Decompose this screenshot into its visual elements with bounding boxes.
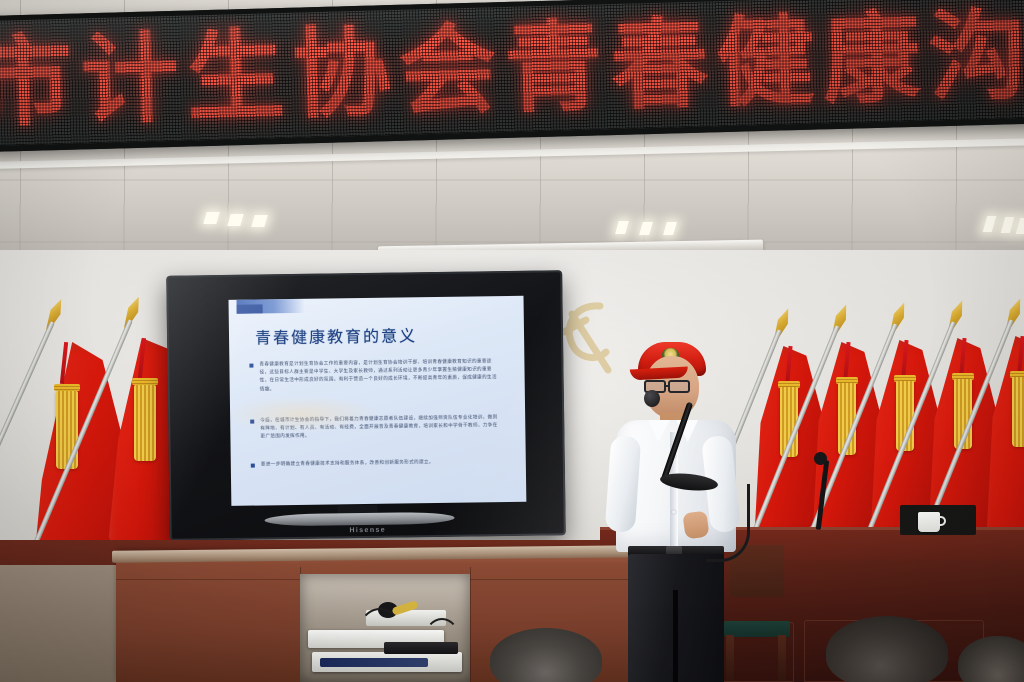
slide-bullet-text: 今后，在城市计生协会的指导下，我们将着力青春健康志愿者队伍建设，继续加强师资队伍… — [260, 414, 498, 442]
slide-bullet-text: 要进一步明确建立青春健康技术支持和服务体系，改善和创新服务形式的建立。 — [261, 459, 434, 470]
audience-head-2 — [826, 616, 948, 682]
slide-title: 青春健康教育的意义 — [255, 322, 417, 348]
cable-loop — [358, 608, 402, 658]
cable-loop — [424, 618, 460, 660]
bullet-marker-icon — [249, 364, 253, 368]
television-display[interactable]: 青春健康教育的意义 青春健康教育是计划生育协会工作的重要内容，是计划生育协会培训… — [166, 270, 566, 541]
tv-brand-label: Hisense — [349, 527, 386, 535]
flag-finial — [119, 294, 146, 331]
bullet-marker-icon — [251, 464, 255, 468]
flag-finial — [1001, 296, 1024, 333]
tv-stand-base — [265, 512, 455, 527]
slide-screen: 青春健康教育的意义 青春健康教育是计划生育协会工作的重要内容，是计划生育协会培训… — [229, 296, 527, 506]
bullet-marker-icon — [250, 420, 254, 424]
microphone-head[interactable] — [644, 390, 660, 407]
conference-hall-photo: 市计生协会青春健康沟 — [0, 0, 1024, 682]
microphone-cable — [706, 484, 750, 562]
flag-tassel — [1012, 377, 1024, 447]
cabinet-open-shelf — [300, 574, 470, 682]
eyeglasses-bridge — [665, 385, 670, 387]
slide-header-accent — [237, 304, 263, 313]
av-device-amplifier-face — [320, 658, 428, 667]
speaker-person — [600, 328, 780, 682]
desk-microphone-head[interactable] — [814, 452, 827, 465]
cabinet-seam — [470, 567, 471, 682]
slide-bullet-1: 青春健康教育是计划生育协会工作的重要内容，是计划生育协会培训干部、培训青春健康教… — [249, 358, 497, 394]
led-banner-panel: 市计生协会青春健康沟 — [0, 0, 1024, 146]
flag-finial — [41, 296, 69, 333]
eyeglasses-right-lens — [668, 380, 690, 393]
slide-bullet-2: 今后，在城市计生协会的指导下，我们将着力青春健康志愿者队伍建设，继续加强师资队伍… — [250, 414, 498, 442]
flag-tassel-band — [132, 378, 158, 385]
shirt-button — [672, 510, 676, 514]
trouser-leg-gap — [673, 590, 678, 682]
led-banner-text: 市计生协会青春健康沟 — [0, 6, 1024, 133]
slide-bullet-3: 要进一步明确建立青春健康技术支持和服务体系，改善和创新服务形式的建立。 — [251, 458, 499, 470]
slide-bullet-text: 青春健康教育是计划生育协会工作的重要内容，是计划生育协会培训干部、培训青春健康教… — [259, 358, 497, 394]
flag-tassel — [134, 385, 156, 461]
flag-right-5 — [974, 296, 1024, 536]
flag-tassel-band — [54, 384, 80, 391]
mug[interactable] — [918, 512, 940, 532]
